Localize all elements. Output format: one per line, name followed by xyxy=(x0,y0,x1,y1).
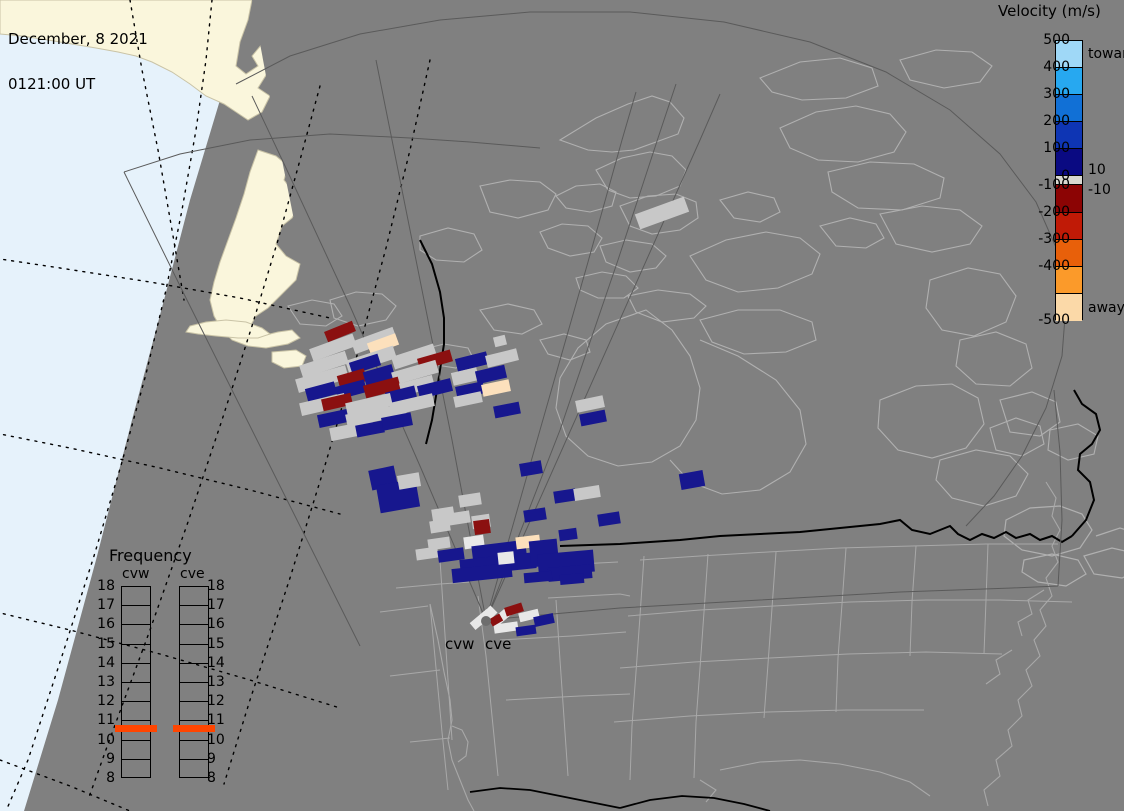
frequency-column-header-cvw: cvw xyxy=(122,566,149,582)
frequency-tick-cvw: 12 xyxy=(87,693,115,709)
frequency-cell xyxy=(180,760,208,779)
frequency-cell xyxy=(180,625,208,644)
frequency-cell xyxy=(180,683,208,702)
plot-date: December, 8 2021 xyxy=(8,32,148,47)
colorbar-tick: -500 xyxy=(1038,312,1070,328)
colorbar-away-label: away xyxy=(1088,300,1124,316)
fan-plot-canvas: cvw cve December, 8 2021 0121:00 UT Velo… xyxy=(0,0,1124,811)
colorbar-tick: 200 xyxy=(1043,113,1070,129)
colorbar-tick: 100 xyxy=(1043,140,1070,156)
frequency-cell xyxy=(180,702,208,721)
colorbar-tick: -400 xyxy=(1038,258,1070,274)
timestamp-block: December, 8 2021 0121:00 UT xyxy=(8,2,148,122)
colorbar-minus10-label: -10 xyxy=(1088,182,1111,198)
colorbar-tick: 400 xyxy=(1043,59,1070,75)
frequency-tick-cvw: 9 xyxy=(87,751,115,767)
colorbar-tick: 300 xyxy=(1043,86,1070,102)
frequency-cell xyxy=(122,702,150,721)
frequency-tick-cve: 9 xyxy=(207,751,235,767)
frequency-cell xyxy=(122,625,150,644)
frequency-marker-cvw xyxy=(115,725,157,732)
frequency-cell xyxy=(180,741,208,760)
frequency-tick-cvw: 15 xyxy=(87,636,115,652)
frequency-cell xyxy=(122,645,150,664)
frequency-tick-cve: 14 xyxy=(207,655,235,671)
colorbar-title: Velocity (m/s) xyxy=(998,2,1101,20)
frequency-tick-cve: 10 xyxy=(207,732,235,748)
frequency-legend: Frequency cvw18171615141312111098cve1817… xyxy=(95,546,245,796)
frequency-cell xyxy=(180,645,208,664)
frequency-tick-cvw: 10 xyxy=(87,732,115,748)
plot-time: 0121:00 UT xyxy=(8,77,148,92)
frequency-cell xyxy=(122,664,150,683)
radar-site-marker xyxy=(481,616,491,626)
velocity-colorbar: Velocity (m/s) 5004003002001000-100-200-… xyxy=(980,0,1124,340)
frequency-tick-cvw: 17 xyxy=(87,597,115,613)
frequency-column-cve xyxy=(179,586,209,778)
frequency-tick-cve: 11 xyxy=(207,712,235,728)
frequency-column-header-cve: cve xyxy=(180,566,205,582)
frequency-tick-cve: 8 xyxy=(207,770,235,786)
frequency-tick-cve: 13 xyxy=(207,674,235,690)
frequency-tick-cve: 18 xyxy=(207,578,235,594)
frequency-tick-cvw: 13 xyxy=(87,674,115,690)
frequency-cell xyxy=(122,760,150,779)
frequency-column-cvw xyxy=(121,586,151,778)
frequency-cell xyxy=(122,606,150,625)
frequency-tick-cve: 12 xyxy=(207,693,235,709)
site-label-cve: cve xyxy=(485,635,511,653)
frequency-cell xyxy=(180,587,208,606)
frequency-tick-cvw: 18 xyxy=(87,578,115,594)
frequency-tick-cve: 16 xyxy=(207,616,235,632)
frequency-tick-cvw: 16 xyxy=(87,616,115,632)
frequency-tick-cve: 17 xyxy=(207,597,235,613)
frequency-tick-cve: 15 xyxy=(207,636,235,652)
colorbar-toward-label: toward xyxy=(1088,46,1124,62)
frequency-cell xyxy=(122,683,150,702)
frequency-tick-cvw: 8 xyxy=(87,770,115,786)
colorbar-tick: -100 xyxy=(1038,177,1070,193)
frequency-cell xyxy=(122,741,150,760)
colorbar-tick: -300 xyxy=(1038,231,1070,247)
colorbar-tick: 500 xyxy=(1043,32,1070,48)
frequency-cell xyxy=(122,587,150,606)
colorbar-tick: -200 xyxy=(1038,204,1070,220)
frequency-cell xyxy=(180,606,208,625)
site-label-cvw: cvw xyxy=(445,635,474,653)
frequency-cell xyxy=(180,664,208,683)
frequency-legend-title: Frequency xyxy=(109,546,192,565)
colorbar-plus10-label: 10 xyxy=(1088,162,1106,178)
frequency-tick-cvw: 14 xyxy=(87,655,115,671)
frequency-tick-cvw: 11 xyxy=(87,712,115,728)
